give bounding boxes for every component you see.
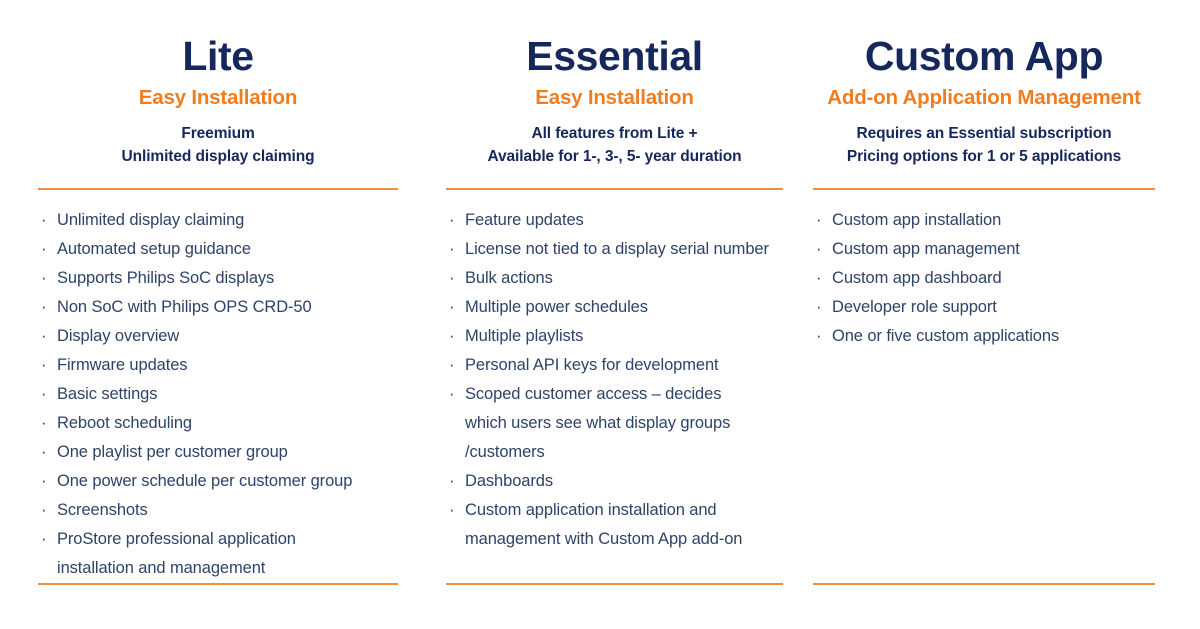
- bullet-icon: ·: [41, 467, 46, 496]
- feature-text-line: Personal API keys for development: [465, 356, 719, 374]
- feature-text-line: Screenshots: [57, 501, 148, 519]
- tier-column-lite: LiteEasy InstallationFreemiumUnlimited d…: [0, 0, 408, 629]
- tier-title: Essential: [446, 30, 783, 82]
- feature-item: ·Custom app installation: [813, 206, 1155, 235]
- tier-meta: FreemiumUnlimited display claiming: [38, 122, 398, 168]
- feature-text-line: Multiple power schedules: [465, 298, 648, 316]
- tier-meta-line: All features from Lite +: [446, 122, 783, 145]
- bullet-icon: ·: [449, 293, 454, 322]
- feature-item: ·Unlimited display claiming: [38, 206, 398, 235]
- bullet-icon: ·: [41, 322, 46, 351]
- feature-item: ·Multiple power schedules: [446, 293, 783, 322]
- feature-item: ·Multiple playlists: [446, 322, 783, 351]
- feature-list-custom-app: ·Custom app installation·Custom app mana…: [813, 190, 1155, 583]
- feature-text-line: One playlist per customer group: [57, 443, 288, 461]
- tier-header-custom-app: Custom AppAdd-on Application ManagementR…: [813, 0, 1155, 168]
- feature-item: ·Bulk actions: [446, 264, 783, 293]
- bullet-icon: ·: [449, 351, 454, 380]
- bullet-icon: ·: [41, 380, 46, 409]
- bullet-icon: ·: [816, 206, 821, 235]
- bullet-icon: ·: [816, 293, 821, 322]
- feature-text-line: Unlimited display claiming: [57, 211, 244, 229]
- bullet-icon: ·: [816, 322, 821, 351]
- bullet-icon: ·: [41, 351, 46, 380]
- feature-text-line: One power schedule per customer group: [57, 472, 352, 490]
- feature-text-line: Firmware updates: [57, 356, 187, 374]
- tier-meta-line: Unlimited display claiming: [38, 145, 398, 168]
- bullet-icon: ·: [449, 496, 454, 525]
- pricing-tier-comparison: LiteEasy InstallationFreemiumUnlimited d…: [0, 0, 1200, 629]
- feature-text-line: installation and management: [57, 559, 265, 577]
- feature-text-line: Bulk actions: [465, 269, 553, 287]
- feature-item: ·Custom app management: [813, 235, 1155, 264]
- bullet-icon: ·: [41, 438, 46, 467]
- feature-item: ·Personal API keys for development: [446, 351, 783, 380]
- feature-text-line: Developer role support: [832, 298, 997, 316]
- tier-meta-line: Available for 1-, 3-, 5- year duration: [446, 145, 783, 168]
- feature-text-line: Scoped customer access – decides: [465, 385, 721, 403]
- feature-text-line: ProStore professional application: [57, 530, 296, 548]
- tier-title: Custom App: [813, 30, 1155, 82]
- tier-subtitle: Easy Installation: [38, 84, 398, 112]
- tier-column-essential: EssentialEasy InstallationAll features f…: [408, 0, 789, 629]
- tier-column-custom-app: Custom AppAdd-on Application ManagementR…: [789, 0, 1200, 629]
- feature-text-line: Reboot scheduling: [57, 414, 192, 432]
- bullet-icon: ·: [41, 409, 46, 438]
- bullet-icon: ·: [41, 206, 46, 235]
- feature-item: ·Screenshots: [38, 496, 398, 525]
- feature-text-line: /customers: [465, 443, 545, 461]
- feature-item: ·One or five custom applications: [813, 322, 1155, 351]
- feature-text-line: which users see what display groups: [465, 414, 730, 432]
- tier-header-lite: LiteEasy InstallationFreemiumUnlimited d…: [38, 0, 398, 168]
- tier-meta-line: Requires an Essential subscription: [813, 122, 1155, 145]
- feature-text-line: Automated setup guidance: [57, 240, 251, 258]
- feature-item: ·Scoped customer access – decideswhich u…: [446, 380, 783, 467]
- feature-item: ·Developer role support: [813, 293, 1155, 322]
- feature-text-line: Feature updates: [465, 211, 584, 229]
- feature-text-line: Display overview: [57, 327, 179, 345]
- feature-item: ·Non SoC with Philips OPS CRD-50: [38, 293, 398, 322]
- feature-list-lite: ·Unlimited display claiming·Automated se…: [38, 190, 398, 583]
- feature-list-essential: ·Feature updates·License not tied to a d…: [446, 190, 783, 583]
- bullet-icon: ·: [41, 264, 46, 293]
- feature-item: ·Dashboards: [446, 467, 783, 496]
- feature-text-line: Non SoC with Philips OPS CRD-50: [57, 298, 312, 316]
- tier-divider-bottom: [446, 583, 783, 585]
- feature-item: ·Basic settings: [38, 380, 398, 409]
- feature-item: ·One power schedule per customer group: [38, 467, 398, 496]
- bullet-icon: ·: [449, 206, 454, 235]
- feature-text-line: Custom app installation: [832, 211, 1001, 229]
- bullet-icon: ·: [41, 496, 46, 525]
- bullet-icon: ·: [449, 264, 454, 293]
- tier-subtitle: Easy Installation: [446, 84, 783, 112]
- bullet-icon: ·: [816, 264, 821, 293]
- feature-text-line: Basic settings: [57, 385, 157, 403]
- bullet-icon: ·: [41, 235, 46, 264]
- bullet-icon: ·: [816, 235, 821, 264]
- feature-item: ·License not tied to a display serial nu…: [446, 235, 783, 264]
- feature-text-line: Supports Philips SoC displays: [57, 269, 274, 287]
- tier-divider-bottom: [813, 583, 1155, 585]
- feature-item: ·One playlist per customer group: [38, 438, 398, 467]
- feature-item: ·Supports Philips SoC displays: [38, 264, 398, 293]
- feature-text-line: Custom app management: [832, 240, 1020, 258]
- tier-divider-bottom: [38, 583, 398, 585]
- feature-text-line: Custom app dashboard: [832, 269, 1002, 287]
- bullet-icon: ·: [41, 293, 46, 322]
- feature-item: ·Feature updates: [446, 206, 783, 235]
- feature-item: ·Custom app dashboard: [813, 264, 1155, 293]
- feature-item: ·Display overview: [38, 322, 398, 351]
- tier-meta-line: Pricing options for 1 or 5 applications: [813, 145, 1155, 168]
- tier-subtitle: Add-on Application Management: [813, 84, 1155, 112]
- feature-item: ·Automated setup guidance: [38, 235, 398, 264]
- feature-item: ·ProStore professional applicationinstal…: [38, 525, 398, 583]
- feature-item: ·Custom application installation andmana…: [446, 496, 783, 554]
- bullet-icon: ·: [449, 380, 454, 409]
- tier-meta: Requires an Essential subscriptionPricin…: [813, 122, 1155, 168]
- feature-text-line: management with Custom App add-on: [465, 530, 742, 548]
- bullet-icon: ·: [449, 235, 454, 264]
- feature-text-line: Multiple playlists: [465, 327, 583, 345]
- feature-text-line: One or five custom applications: [832, 327, 1059, 345]
- feature-text-line: License not tied to a display serial num…: [465, 240, 769, 258]
- feature-text-line: Dashboards: [465, 472, 553, 490]
- tier-meta-line: Freemium: [38, 122, 398, 145]
- bullet-icon: ·: [449, 467, 454, 496]
- feature-item: ·Firmware updates: [38, 351, 398, 380]
- tier-header-essential: EssentialEasy InstallationAll features f…: [446, 0, 783, 168]
- tier-meta: All features from Lite +Available for 1-…: [446, 122, 783, 168]
- bullet-icon: ·: [449, 322, 454, 351]
- feature-text-line: Custom application installation and: [465, 501, 717, 519]
- feature-item: ·Reboot scheduling: [38, 409, 398, 438]
- tier-title: Lite: [38, 30, 398, 82]
- bullet-icon: ·: [41, 525, 46, 554]
